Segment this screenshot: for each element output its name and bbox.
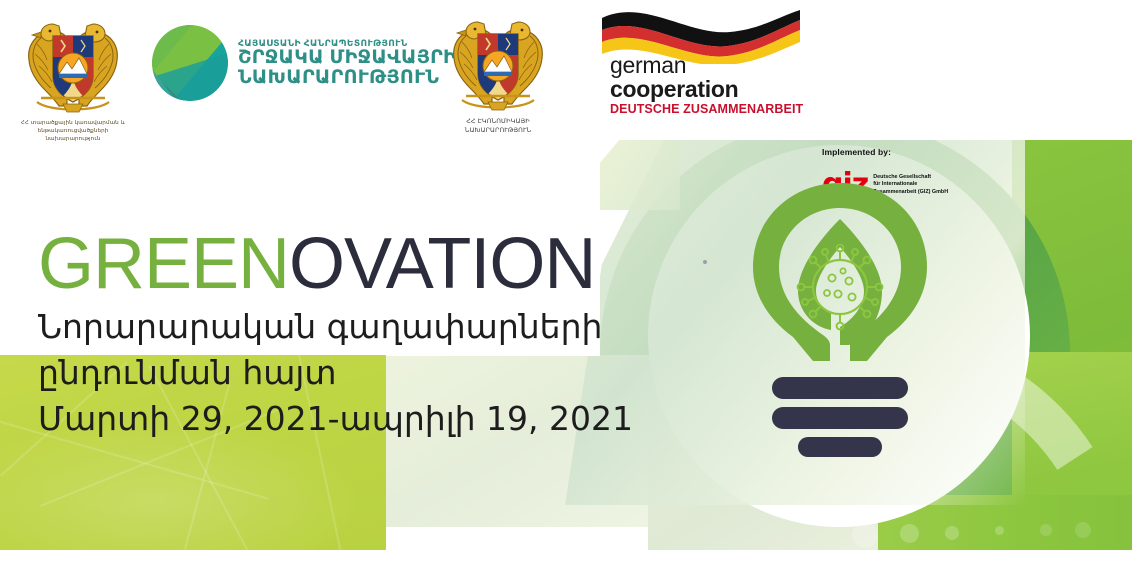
virus-molecule-icon [798,245,883,330]
bulb-base-ring-2 [772,407,908,429]
logo-environment-ministry: ՀԱՅԱՍՏԱՆԻ ՀԱՆՐԱՊԵՏՈՒԹՅՈՒՆ ՇՐՋԱԿԱ ՄԻՋԱՎԱՅ… [152,25,456,101]
background-bokeh-dot [945,526,959,540]
environment-ministry-wordmark: ՀԱՅԱՍՏԱՆԻ ՀԱՆՐԱՊԵՏՈՒԹՅՈՒՆ ՇՐՋԱԿԱ ՄԻՋԱՎԱՅ… [238,39,456,88]
title-green-part: GREEN [38,224,289,304]
subtitle-line-1: Նորարարական գաղափարների [38,304,633,350]
german-cooperation-wordmark: german cooperation DEUTSCHE ZUSAMMENARBE… [610,54,803,117]
subtitle-block: Նորարարական գաղափարների ընդունման հայտ Մ… [38,304,633,442]
subtitle-line-3: Մարտի 29, 2021-ապրիլի 19, 2021 [38,396,633,442]
greenovation-poster: ՀՀ տարածքային կառավարման և ենթակառուցված… [0,0,1132,575]
armenia-coat-of-arms-icon [19,14,127,118]
background-bokeh-dot [1040,524,1052,536]
page-title: GREENOVATION [38,228,633,300]
logo-territorial-administration-ministry: ՀՀ տարածքային կառավարման և ենթակառուցված… [8,14,138,143]
background-bokeh-dot [900,524,919,543]
green-lightbulb-leaf-virus-emblem [735,175,945,465]
logo-caption: ՀՀ տարածքային կառավարման և ենթակառուցված… [8,119,138,143]
environment-ministry-circle-icon [152,25,228,101]
armenia-coat-of-arms-icon [444,12,552,116]
logo-german-cooperation: german cooperation DEUTSCHE ZUSAMMENARBE… [596,2,806,117]
logo-caption: ՀՀ ԷԿՈՆՈՄԻԿԱՅԻ ՆԱԽԱՐԱՐՈՒԹՅՈՒՆ [432,117,564,135]
implemented-by-label: Implemented by: [822,147,972,157]
background-bokeh-dot [1075,522,1091,538]
logo-economy-ministry: ՀՀ ԷԿՈՆՈՄԻԿԱՅԻ ՆԱԽԱՐԱՐՈՒԹՅՈՒՆ [432,12,564,135]
bulb-base-ring-1 [772,377,908,399]
bulb-outline-icon [735,175,945,375]
bulb-base-ring-3 [798,437,882,457]
title-dark-part: OVATION [289,224,595,304]
headline-block: GREENOVATION Նորարարական գաղափարների ընդ… [38,228,633,442]
background-bokeh-dot [995,526,1004,535]
decorative-dot [703,260,707,264]
subtitle-line-2: ընդունման հայտ [38,350,633,396]
background-bottom-white-strip [0,550,1132,575]
partner-logo-bar: ՀՀ տարածքային կառավարման և ենթակառուցված… [0,0,1132,140]
